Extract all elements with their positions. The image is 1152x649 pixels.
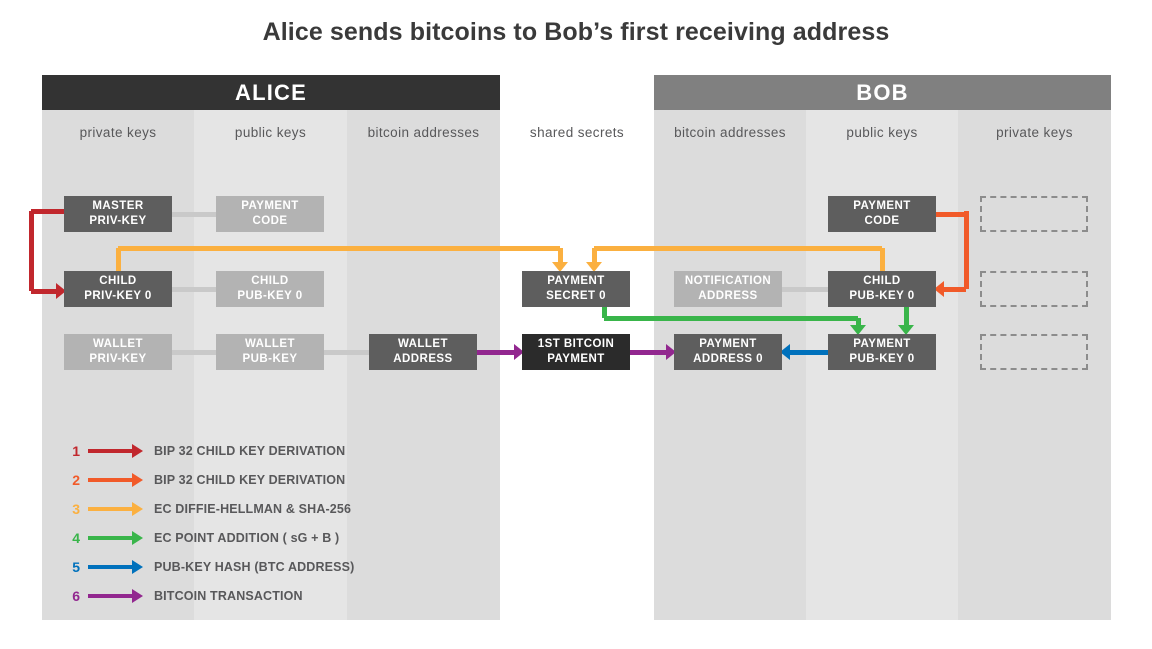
legend-arrow-icon — [88, 565, 132, 569]
connector-segment — [31, 289, 56, 294]
legend-row-5: 5PUB-KEY HASH (BTC ADDRESS) — [64, 557, 354, 577]
node-child-pub-key-0-alice: CHILDPUB-KEY 0 — [216, 271, 324, 307]
legend-arrow-head-icon — [132, 589, 143, 603]
node-label-line: PUB-KEY 0 — [237, 289, 302, 304]
connector-segment — [782, 287, 828, 292]
connector-segment — [936, 212, 966, 217]
node-child-priv-key-0: CHILDPRIV-KEY 0 — [64, 271, 172, 307]
legend-arrow-head-icon — [132, 444, 143, 458]
connector-segment — [477, 350, 514, 355]
connector-segment — [790, 350, 828, 355]
column-caption-bob-public-keys: public keys — [806, 110, 958, 154]
legend-row-2: 2BIP 32 CHILD KEY DERIVATION — [64, 470, 345, 490]
node-notification-address: NOTIFICATIONADDRESS — [674, 271, 782, 307]
connector-segment — [172, 350, 216, 355]
connector-segment — [118, 246, 560, 251]
column-caption-alice-bitcoin-addresses: bitcoin addresses — [347, 110, 500, 154]
node-label-line: PRIV-KEY — [89, 352, 146, 367]
legend-label: BIP 32 CHILD KEY DERIVATION — [154, 444, 345, 458]
node-label-line: PUB-KEY 0 — [849, 289, 914, 304]
connector-segment — [116, 248, 121, 271]
column-caption-bob-bitcoin-addresses: bitcoin addresses — [654, 110, 806, 154]
column-caption-bob-private-keys: private keys — [958, 110, 1111, 154]
node-payment-code-bob: PAYMENTCODE — [828, 196, 936, 232]
legend-arrow-icon — [88, 478, 132, 482]
node-label-line: WALLET — [93, 337, 143, 352]
node-label-line: PUB-KEY 0 — [849, 352, 914, 367]
connector-segment — [880, 248, 885, 271]
node-payment-code-alice: PAYMENTCODE — [216, 196, 324, 232]
connector-segment — [594, 246, 882, 251]
column-caption-shared-secrets: shared secrets — [500, 110, 654, 154]
node-payment-pub-key-0: PAYMENTPUB-KEY 0 — [828, 334, 936, 370]
legend-label: EC DIFFIE-HELLMAN & SHA-256 — [154, 502, 351, 516]
node-label-line: CHILD — [251, 274, 288, 289]
node-bob-private-slot-1 — [980, 196, 1088, 232]
node-payment-secret-0: PAYMENTSECRET 0 — [522, 271, 630, 307]
node-wallet-pub-key: WALLETPUB-KEY — [216, 334, 324, 370]
connector-segment — [172, 287, 216, 292]
node-label-line: CODE — [252, 214, 287, 229]
node-label-line: ADDRESS — [393, 352, 452, 367]
legend-label: BIP 32 CHILD KEY DERIVATION — [154, 473, 345, 487]
node-payment-address-0: PAYMENTADDRESS 0 — [674, 334, 782, 370]
node-label-line: WALLET — [245, 337, 295, 352]
node-label-line: SECRET 0 — [546, 289, 606, 304]
legend-arrow-head-icon — [132, 531, 143, 545]
legend-number: 5 — [64, 559, 80, 575]
node-wallet-priv-key: WALLETPRIV-KEY — [64, 334, 172, 370]
node-label-line: CHILD — [863, 274, 900, 289]
node-label-line: NOTIFICATION — [685, 274, 771, 289]
legend-number: 2 — [64, 472, 80, 488]
node-wallet-address: WALLETADDRESS — [369, 334, 477, 370]
connector-segment — [964, 211, 969, 289]
legend-row-6: 6BITCOIN TRANSACTION — [64, 586, 303, 606]
connector-segment — [856, 318, 861, 325]
node-label-line: CODE — [864, 214, 899, 229]
connector-segment — [172, 212, 216, 217]
legend-arrow-head-icon — [132, 560, 143, 574]
legend-row-1: 1BIP 32 CHILD KEY DERIVATION — [64, 441, 345, 461]
node-label-line: ADDRESS 0 — [693, 352, 763, 367]
column-caption-alice-private-keys: private keys — [42, 110, 194, 154]
connector-segment — [558, 248, 563, 262]
node-label-line: WALLET — [398, 337, 448, 352]
node-label-line: PRIV-KEY 0 — [84, 289, 152, 304]
node-label-line: MASTER — [92, 199, 143, 214]
column-caption-alice-public-keys: public keys — [194, 110, 347, 154]
node-label-line: PAYMENT — [853, 337, 910, 352]
legend-number: 1 — [64, 443, 80, 459]
node-label-line: PAYMENT — [547, 274, 604, 289]
node-label-line: PAYMENT — [699, 337, 756, 352]
connector-segment — [630, 350, 666, 355]
connector-segment — [904, 307, 909, 325]
connector-segment — [31, 209, 64, 214]
party-header-bob: BOB — [654, 75, 1111, 110]
legend-arrow-icon — [88, 449, 132, 453]
legend-label: EC POINT ADDITION ( sG + B ) — [154, 531, 339, 545]
party-header-alice: ALICE — [42, 75, 500, 110]
legend-label: PUB-KEY HASH (BTC ADDRESS) — [154, 560, 354, 574]
legend-row-3: 3EC DIFFIE-HELLMAN & SHA-256 — [64, 499, 351, 519]
legend-arrow-icon — [88, 507, 132, 511]
page-title: Alice sends bitcoins to Bob’s first rece… — [0, 18, 1152, 47]
diagram-canvas: Alice sends bitcoins to Bob’s first rece… — [0, 0, 1152, 649]
legend-arrow-icon — [88, 594, 132, 598]
node-master-priv-key: MASTERPRIV-KEY — [64, 196, 172, 232]
node-label-line: PUB-KEY — [243, 352, 298, 367]
node-bob-private-slot-3 — [980, 334, 1088, 370]
legend-label: BITCOIN TRANSACTION — [154, 589, 303, 603]
node-label-line: ADDRESS — [698, 289, 757, 304]
legend-number: 6 — [64, 588, 80, 604]
connector-segment — [604, 316, 858, 321]
node-first-bitcoin-payment: 1ST BITCOINPAYMENT — [522, 334, 630, 370]
node-child-pub-key-0-bob: CHILDPUB-KEY 0 — [828, 271, 936, 307]
node-label-line: PAYMENT — [241, 199, 298, 214]
node-label-line: PAYMENT — [547, 352, 604, 367]
legend-number: 4 — [64, 530, 80, 546]
node-bob-private-slot-2 — [980, 271, 1088, 307]
connector-segment — [29, 211, 34, 291]
legend-arrow-head-icon — [132, 502, 143, 516]
node-label-line: 1ST BITCOIN — [538, 337, 615, 352]
connector-segment — [592, 248, 597, 262]
legend-row-4: 4EC POINT ADDITION ( sG + B ) — [64, 528, 339, 548]
node-label-line: PAYMENT — [853, 199, 910, 214]
legend-arrow-head-icon — [132, 473, 143, 487]
legend-arrow-icon — [88, 536, 132, 540]
connector-segment — [944, 287, 966, 292]
node-label-line: PRIV-KEY — [89, 214, 146, 229]
connector-segment — [324, 350, 369, 355]
legend-number: 3 — [64, 501, 80, 517]
node-label-line: CHILD — [99, 274, 136, 289]
